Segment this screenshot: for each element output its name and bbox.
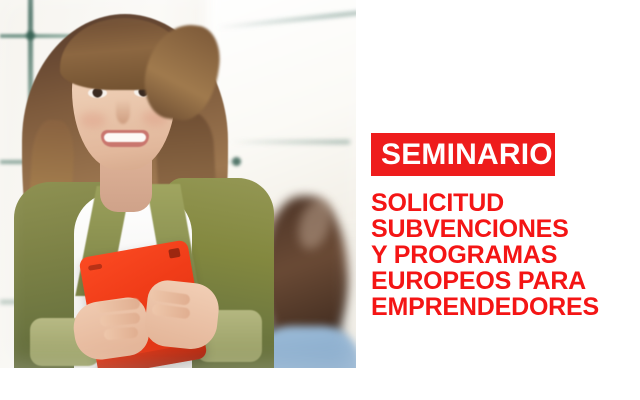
headline-line-4: EUROPEOS PARA — [371, 268, 640, 294]
poster-canvas: SEMINARIO SOLICITUD SUBVENCIONES Y PROGR… — [0, 0, 640, 400]
headline-line-5: EMPRENDEDORES — [371, 294, 640, 320]
finger-left-3 — [104, 327, 139, 340]
seminario-badge-label: SEMINARIO — [371, 140, 553, 170]
tablet-speaker-slot — [88, 264, 103, 271]
smiling-mouth — [101, 130, 149, 147]
cheek-left — [80, 112, 106, 128]
seminario-badge: SEMINARIO — [371, 133, 555, 176]
headline-line-3: Y PROGRAMAS — [371, 242, 640, 268]
headline-line-1: SOLICITUD — [371, 190, 640, 216]
headline-block: SOLICITUD SUBVENCIONES Y PROGRAMAS EUROP… — [371, 190, 640, 320]
nose — [116, 100, 130, 124]
tablet-camera-icon — [168, 248, 180, 259]
subject-figure — [0, 0, 356, 368]
headline-line-2: SUBVENCIONES — [371, 216, 640, 242]
text-panel: SEMINARIO SOLICITUD SUBVENCIONES Y PROGR… — [371, 0, 640, 400]
teeth — [104, 133, 146, 142]
hero-photo — [0, 0, 356, 368]
